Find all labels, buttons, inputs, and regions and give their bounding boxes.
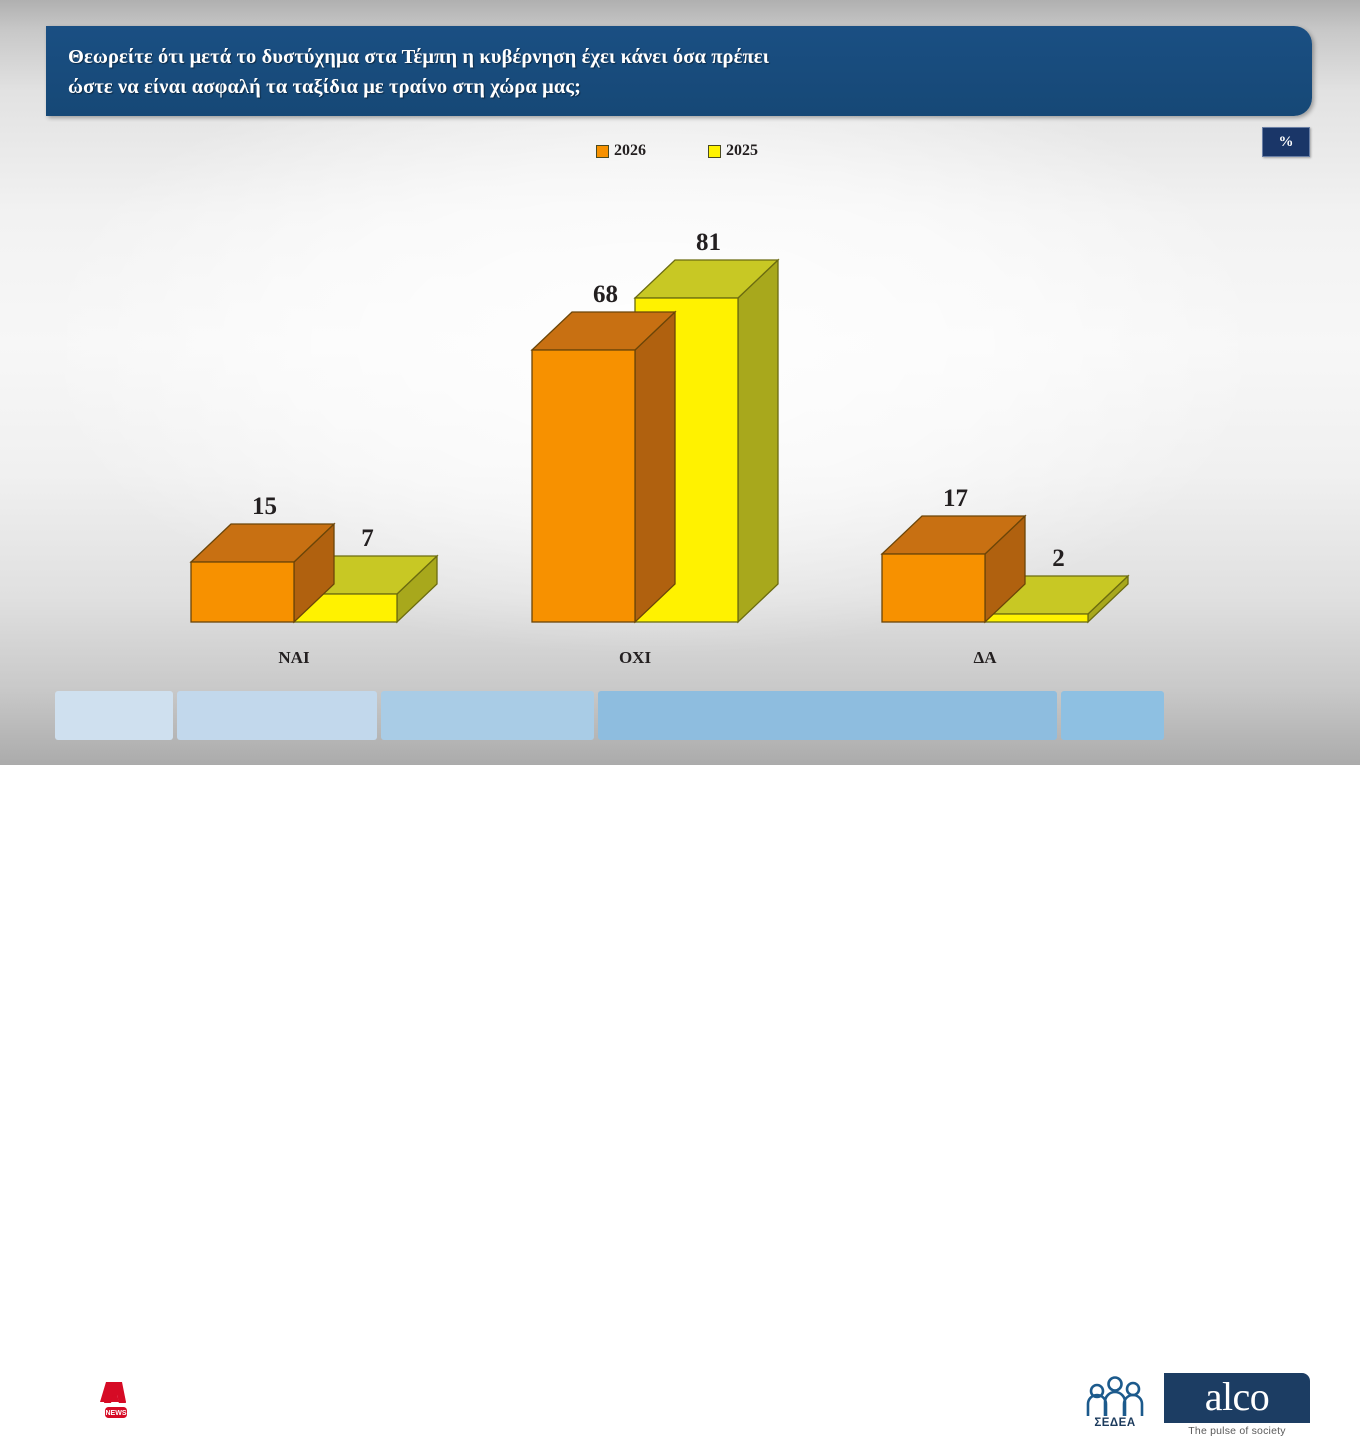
bar-value-label: 7	[361, 525, 374, 552]
bar-ΟΧΙ-2026[interactable]: 68	[532, 281, 675, 622]
footer-bar: NEWS ΣΕΔΕΑ alco The pulse of society	[0, 686, 1360, 765]
bar-ΔΑ-2026[interactable]: 17	[882, 485, 1025, 622]
alco-tagline: The pulse of society	[1164, 1425, 1310, 1437]
bar-value-label: 81	[696, 229, 721, 256]
legend-item-2026[interactable]: 2026	[596, 142, 646, 160]
bar-front-face	[985, 614, 1088, 622]
alco-logo-label: alco	[1164, 1371, 1310, 1423]
footer-segment-3	[598, 691, 1057, 740]
chart-legend: 2026 2025	[596, 142, 758, 160]
bar-ΝΑΙ-2026[interactable]: 15	[191, 493, 334, 622]
bar-value-label: 68	[593, 281, 618, 308]
bar-value-label: 15	[252, 493, 277, 520]
bar-chart-svg: 2178168715	[0, 170, 1360, 640]
slide-canvas: Θεωρείτε ότι μετά το δυστύχημα στα Τέμπη…	[0, 0, 1360, 765]
page-title: Θεωρείτε ότι μετά το δυστύχημα στα Τέμπη…	[68, 42, 1290, 103]
bar-front-face	[532, 350, 635, 622]
footer-segment-1	[177, 691, 377, 740]
alpha-news-logo-icon: NEWS	[95, 1380, 137, 1424]
sedea-label: ΣΕΔΕΑ	[1072, 1417, 1158, 1429]
chart-plot-area: 2178168715	[0, 170, 1360, 640]
legend-swatch-2025	[708, 145, 721, 158]
news-logo-word: NEWS	[106, 1410, 127, 1417]
category-label-da: ΔΑ	[865, 648, 1105, 668]
legend-label-2025: 2025	[726, 142, 758, 160]
bar-value-label: 2	[1052, 545, 1065, 572]
legend-swatch-2026	[596, 145, 609, 158]
bar-value-label: 17	[943, 485, 968, 512]
bar-front-face	[882, 554, 985, 622]
unit-badge-percent: %	[1262, 127, 1310, 157]
legend-label-2026: 2026	[614, 142, 646, 160]
title-banner: Θεωρείτε ότι μετά το δυστύχημα στα Τέμπη…	[46, 26, 1312, 116]
bar-front-face	[191, 562, 294, 622]
category-label-nai: ΝΑΙ	[174, 648, 414, 668]
footer-segment-2	[381, 691, 594, 740]
bar-side-face	[635, 312, 675, 622]
footer-segment-logo	[55, 691, 173, 740]
legend-item-2025[interactable]: 2025	[708, 142, 758, 160]
bar-side-face	[738, 260, 778, 622]
footer-segment-4	[1061, 691, 1164, 740]
category-label-oxi: ΟΧΙ	[515, 648, 755, 668]
